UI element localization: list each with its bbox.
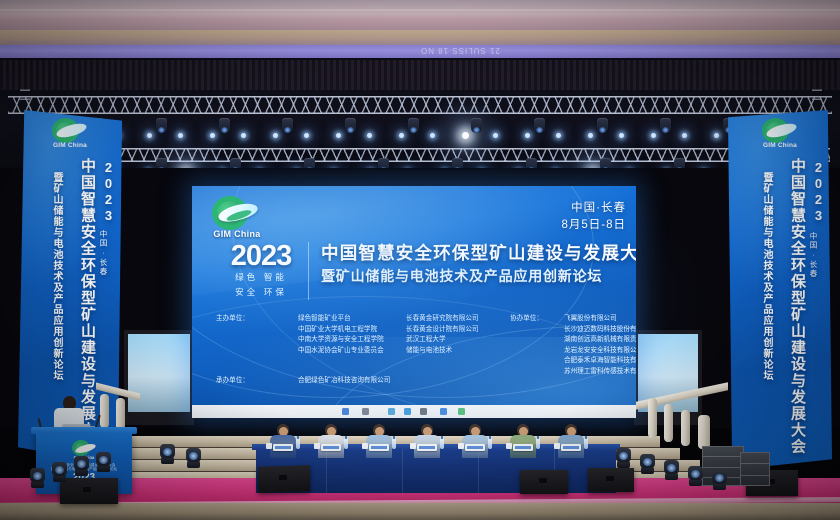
truss-lamp-upper-8 (304, 133, 309, 138)
water-bottle-4 (488, 438, 492, 449)
panelist-4 (462, 424, 488, 458)
floor-light-1-lens (55, 466, 64, 474)
floor-moving-light-10 (712, 470, 727, 490)
equipment-flight-case-2 (740, 452, 770, 486)
panelist-2 (366, 424, 392, 458)
taskbar-icon-0[interactable] (342, 408, 349, 415)
cohost-org-0: 飞翼股份有限公司 (564, 314, 636, 325)
cup-2 (362, 443, 368, 449)
conference-stage-photo: 21 SULISS 18 NO GIM China 中国·长春 (0, 0, 840, 520)
water-bottle-3 (440, 438, 444, 449)
truss-vertical-right (812, 86, 822, 100)
right-banner-year: 2023 (811, 160, 826, 224)
floor-light-5-base (187, 461, 200, 468)
left-banner-title-sub: 暨矿山储能与电池技术及产品应用创新论坛 (49, 172, 64, 381)
taskbar-icon-4[interactable] (420, 408, 427, 415)
water-bottle-2 (392, 438, 396, 449)
baluster-r3 (681, 410, 690, 446)
host-org-b-1: 长春黄金设计院有限公司 (406, 325, 479, 336)
truss-lamp-upper-9 (336, 133, 341, 138)
moving-head-upper-13 (471, 118, 482, 133)
stage-monitor-center-right (520, 470, 568, 494)
podium-desktop (31, 427, 137, 434)
right-vertical-led-banner: GIM China 2023 中国·长春 中国智慧安全环保型矿山建设与发展大会 … (728, 110, 832, 470)
cohost-org-1: 长沙迪迈数码科技股份有限公司 (564, 325, 636, 336)
ceiling-violet-light-strip: 21 SULISS 18 NO (0, 45, 840, 59)
event-date: 8月5日-8日 (561, 217, 626, 234)
left-banner-gim-logo: GIM China (47, 118, 93, 152)
ceiling-seam (0, 9, 840, 11)
undertaker-label-col: 承办单位： (216, 376, 249, 387)
floor-light-2-lens (77, 460, 86, 468)
event-title-main: 中国智慧安全环保型矿山建设与发展大会 (321, 242, 636, 264)
name-card-4 (465, 444, 485, 451)
event-slogan-line2: 安全 环保 (220, 287, 302, 300)
floor-light-1-base (53, 475, 66, 482)
name-card-2 (369, 444, 389, 451)
truss-lamp-upper-11 (399, 133, 404, 138)
host-org-b-0: 长春黄金研究院有限公司 (406, 314, 479, 325)
undertaker-label: 承办单位： (216, 376, 249, 387)
ceiling-banner-text: 21 SULISS 18 NO (420, 46, 500, 55)
stage-monitor-left (60, 478, 118, 504)
host-org-3: 中国水泥协会矿山专业委员会 (298, 346, 384, 357)
floor-light-0-base (31, 481, 44, 488)
event-title-sub: 暨矿山储能与电池技术及产品应用创新论坛 (321, 266, 636, 286)
floor-light-9-lens (691, 470, 700, 478)
right-banner-title-main: 中国智慧安全环保型矿山建设与发展大会 (787, 158, 808, 455)
name-card-1 (321, 444, 341, 451)
floor-light-4-lens (163, 448, 172, 456)
name-card-6 (561, 444, 581, 451)
windows-taskbar[interactable] (192, 405, 636, 418)
floor-light-8-base (665, 473, 678, 480)
panelist-1 (318, 424, 344, 458)
host-org-b-2: 武汉工程大学 (406, 335, 479, 346)
event-place-date: 中国·长春 8月5日-8日 (561, 200, 626, 234)
truss-lamp-upper-3 (147, 133, 152, 138)
right-banner-logo-text: GIM China (757, 142, 803, 149)
truss-lamp-upper-21 (714, 133, 719, 138)
floor-moving-light-6 (616, 448, 631, 468)
baluster-r2 (664, 404, 673, 442)
taskbar-icon-1[interactable] (362, 408, 369, 415)
name-card-0 (273, 444, 293, 451)
floor-moving-light-5 (186, 448, 201, 468)
event-title-column: 中国智慧安全环保型矿山建设与发展大会 暨矿山储能与电池技术及产品应用创新论坛 (309, 242, 636, 286)
panelist-6 (558, 424, 584, 458)
cup-1 (314, 443, 320, 449)
truss-lamp-upper-13 (462, 132, 469, 139)
truss-lamp-upper-18 (619, 133, 624, 138)
left-banner-logo-text: GIM China (47, 142, 93, 149)
truss-lamp-upper-12 (430, 133, 435, 138)
event-slogan-line1: 绿色 智能 (220, 272, 302, 285)
host-label: 主办单位： (216, 314, 249, 325)
truss-lamp-upper-14 (493, 133, 498, 138)
truss-lamp-upper-17 (588, 133, 593, 138)
host-organizations-col1: 绿色智能矿业平台中国矿业大学机电工程学院中南大学资源与安全工程学院中国水泥协会矿… (298, 314, 384, 356)
taskbar-icon-2[interactable] (388, 408, 395, 415)
truss-lamp-upper-16 (556, 133, 561, 138)
table-fold-2 (402, 449, 403, 493)
floor-moving-light-2 (74, 456, 89, 476)
floor-light-3-base (97, 465, 110, 472)
truss-lamp-upper-7 (273, 133, 278, 138)
cup-0 (266, 443, 272, 449)
cup-3 (410, 443, 416, 449)
left-banner-year: 2023 (101, 160, 116, 224)
host-organizations-col2: 长春黄金研究院有限公司长春黄金设计院有限公司武汉工程大学储能与电池技术 (406, 314, 479, 356)
floor-light-5-lens (189, 452, 198, 460)
host-org-1: 中国矿业大学机电工程学院 (298, 325, 384, 336)
cohost-label-col: 协办单位： (510, 314, 543, 325)
hall-ceiling (0, 0, 840, 33)
floor-light-7-base (641, 467, 654, 474)
floor-light-8-lens (667, 464, 676, 472)
floor-moving-light-9 (688, 466, 703, 486)
cup-4 (458, 443, 464, 449)
floor-light-4-base (161, 457, 174, 464)
cup-5 (506, 443, 512, 449)
panelist-3 (414, 424, 440, 458)
stage-monitor-right (588, 468, 634, 492)
right-banner-title-sub: 暨矿山储能与电池技术及产品应用创新论坛 (759, 172, 774, 381)
truss-lamp-upper-6 (241, 133, 246, 138)
water-bottle-6 (584, 438, 588, 449)
moving-head-upper-19 (660, 118, 671, 133)
panelist-5 (510, 424, 536, 458)
floor-light-6-lens (619, 452, 628, 460)
host-org-b-3: 储能与电池技术 (406, 346, 479, 357)
cohost-org-3: 龙岩龙安安全科技有限公司 (564, 346, 636, 357)
cohost-organizations: 飞翼股份有限公司长沙迪迈数码科技股份有限公司湖南创远高新机械有限责任公司龙岩龙安… (564, 314, 636, 378)
floor-moving-light-0 (30, 468, 45, 488)
ceiling-cornice (0, 30, 840, 46)
truss-vertical-left (20, 86, 30, 100)
panelist-0 (270, 424, 296, 458)
event-location: 中国·长春 (561, 200, 626, 217)
name-card-3 (417, 444, 437, 451)
floor-moving-light-4 (160, 444, 175, 464)
water-bottle-1 (344, 438, 348, 449)
lighting-truss-upper (8, 96, 832, 114)
truss-lamp-upper-20 (682, 133, 687, 138)
truss-lamp-upper-4 (178, 133, 183, 138)
floor-moving-light-7 (640, 454, 655, 474)
moving-head-upper-15 (534, 118, 545, 133)
name-card-5 (513, 444, 533, 451)
cohost-org-5: 苏州理工雷科传感技术有限公司 (564, 367, 636, 378)
main-led-screen: GIM China 中国·长春 8月5日-8日 2023 绿色 智能 安全 环保… (192, 186, 636, 418)
floor-light-9-base (689, 479, 702, 486)
truss-lamp-upper-15 (525, 133, 530, 138)
cohost-org-4: 合肥泰禾卓海智能科技有限公司 (564, 356, 636, 367)
stage-monitor-center (258, 465, 310, 493)
moving-head-upper-5 (219, 118, 230, 133)
baluster-l1 (100, 394, 109, 428)
lighting-truss-lower (60, 148, 830, 162)
gim-china-logo: GIM China (206, 196, 266, 244)
cohost-label: 协办单位： (510, 314, 543, 325)
truss-lamp-upper-10 (367, 133, 372, 138)
taskbar-icon-3[interactable] (404, 408, 411, 415)
left-side-panel (128, 334, 190, 412)
baluster-l2 (116, 398, 125, 430)
floor-moving-light-3 (96, 452, 111, 472)
hall-grille (0, 60, 840, 90)
floor-moving-light-1 (52, 462, 67, 482)
floor-moving-light-8 (664, 460, 679, 480)
water-bottle-0 (296, 438, 300, 449)
host-org-2: 中南大学资源与安全工程学院 (298, 335, 384, 346)
taskbar-icon-5[interactable] (440, 408, 447, 415)
event-title-block: 2023 绿色 智能 安全 环保 中国智慧安全环保型矿山建设与发展大会 暨矿山储… (220, 242, 636, 300)
floor-light-2-base (75, 469, 88, 476)
event-year: 2023 (220, 242, 302, 270)
floor-light-10-base (713, 483, 726, 490)
truss-lamp-upper-19 (651, 133, 656, 138)
truss-lamp-upper-5 (210, 133, 215, 138)
right-banner-gim-logo: GIM China (757, 118, 803, 152)
water-bottle-5 (536, 438, 540, 449)
floor-light-6-base (617, 461, 630, 468)
floor-light-10-lens (715, 474, 724, 482)
moving-head-upper-3 (156, 118, 167, 133)
cup-6 (554, 443, 560, 449)
cohost-org-2: 湖南创远高新机械有限责任公司 (564, 335, 636, 346)
moving-head-upper-17 (597, 118, 608, 133)
floor-light-3-lens (99, 456, 108, 464)
floor-light-0-lens (33, 472, 42, 480)
moving-head-upper-7 (282, 118, 293, 133)
undertaker-organization: 合肥绿色矿冶科技咨询有限公司 (298, 376, 390, 387)
baluster-r1 (648, 398, 657, 438)
floor-light-7-lens (643, 458, 652, 466)
baluster-r4 (698, 415, 710, 449)
event-year-column: 2023 绿色 智能 安全 环保 (220, 242, 309, 300)
moving-head-upper-9 (345, 118, 356, 133)
host-label-col: 主办单位： (216, 314, 249, 325)
gim-logo-text: GIM China (206, 229, 268, 239)
moving-head-upper-11 (408, 118, 419, 133)
undertaker-value-col: 合肥绿色矿冶科技咨询有限公司 (298, 376, 390, 387)
foreground-floor (0, 503, 840, 520)
host-org-0: 绿色智能矿业平台 (298, 314, 384, 325)
taskbar-icon-6[interactable] (458, 408, 465, 415)
